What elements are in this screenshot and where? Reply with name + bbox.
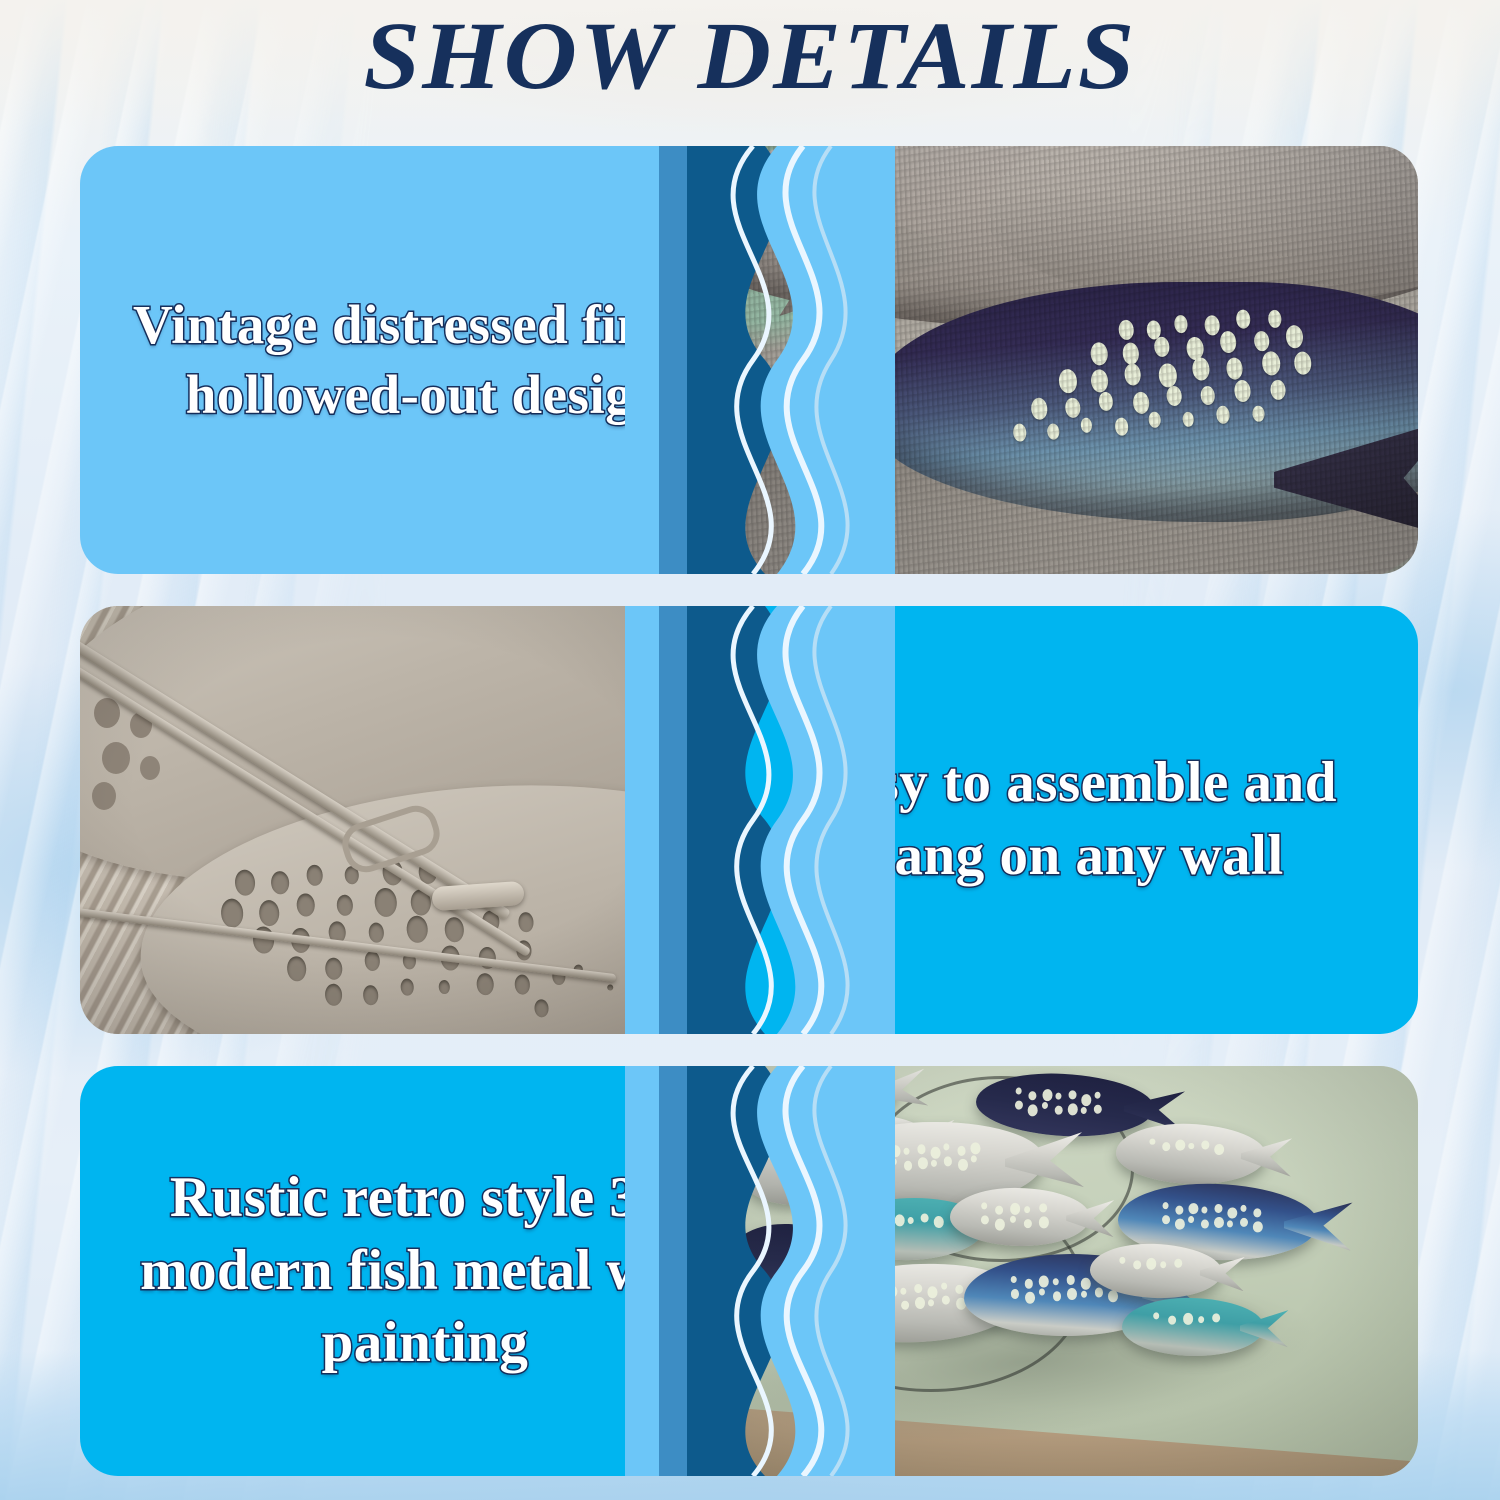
feature-row-3: Rustic retro style 3D modern fish metal … [80,1066,1418,1476]
feature-text-2: Easy to assemble and hang on any wall [754,747,1392,893]
photo2-vignette [80,606,780,1034]
assembly-photo [80,606,780,1034]
photo1-vignette [718,146,1418,574]
feature-text-3: Rustic retro style 3D modern fish metal … [106,1162,744,1381]
feature-row-1: Vintage distressed finish hollowed-out d… [80,146,1418,574]
feature-text-1: Vintage distressed finish hollowed-out d… [106,290,744,431]
infographic-canvas: SHOW DETAILS Vintage distressed finish h… [0,0,1500,1500]
photo3-vignette [718,1066,1418,1476]
installed-wall-photo [718,1066,1418,1476]
feature-panel-2: Easy to assemble and hang on any wall [728,606,1418,1034]
feature-panel-1: Vintage distressed finish hollowed-out d… [80,146,770,574]
feature-row-2: Easy to assemble and hang on any wall [80,606,1418,1034]
page-title: SHOW DETAILS [0,6,1500,107]
fish-closeup-photo [718,146,1418,574]
feature-panel-3: Rustic retro style 3D modern fish metal … [80,1066,770,1476]
